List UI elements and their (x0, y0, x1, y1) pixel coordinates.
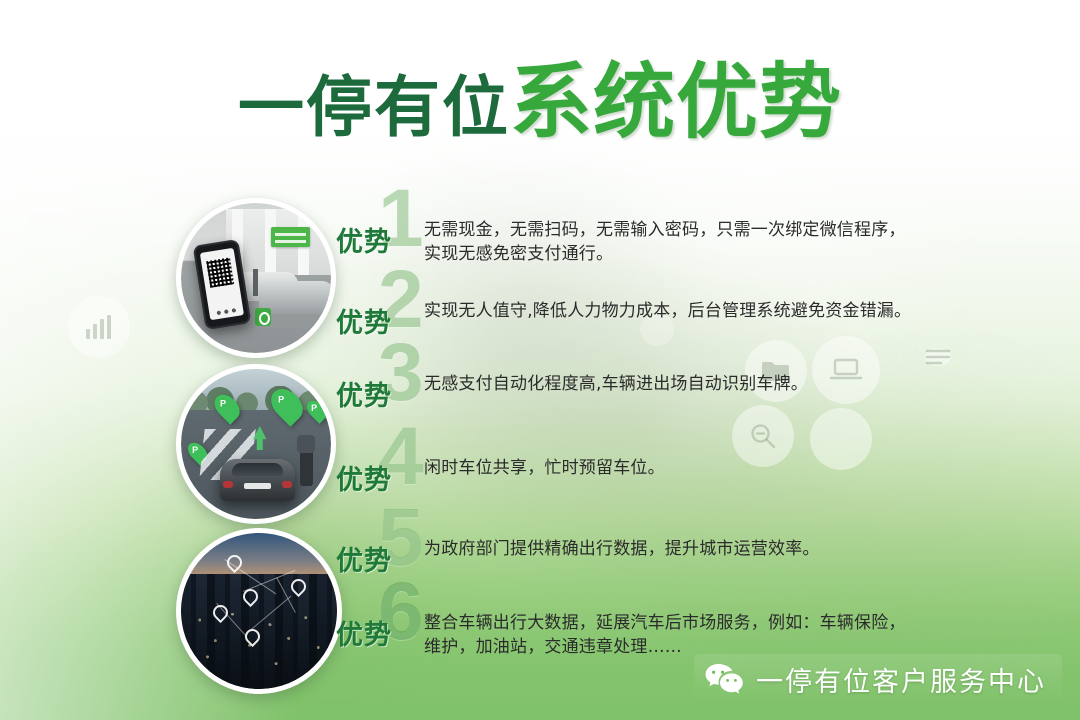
advantage-description-line1: 实现无人值守,降低人力物力成本，后台管理系统避免资金错漏。 (424, 301, 911, 321)
wechat-account-name: 一停有位客户服务中心 (756, 660, 1046, 699)
advantage-description: 无感支付自动化程度高,车辆进出场自动识别车牌。 (424, 372, 1010, 396)
advantage-description-line1: 无需现金，无需扫码，无需输入密码，只需一次绑定微信程序， (424, 220, 906, 240)
advantage-label: 优势 (336, 374, 392, 413)
advantage-description-line1: 整合车辆出行大数据，延展汽车后市场服务，例如：车辆保险， (424, 613, 906, 633)
poster-canvas: 一停有位系统优势 (0, 0, 1080, 720)
advantage-label: 优势 (336, 613, 392, 652)
advantage-description-line2: 实现无感免密支付通行。 (424, 242, 1010, 266)
advantage-description: 整合车辆出行大数据，延展汽车后市场服务，例如：车辆保险， 维护，加油站，交通违章… (424, 611, 1010, 659)
wechat-logo (704, 662, 744, 696)
advantage-description-line1: 闲时车位共享，忙时预留车位。 (424, 458, 665, 478)
advantage-description: 实现无人值守,降低人力物力成本，后台管理系统避免资金错漏。 (424, 299, 1010, 323)
wechat-footer-badge[interactable]: 一停有位客户服务中心 (694, 654, 1062, 704)
advantage-list: 1 优势 无需现金，无需扫码，无需输入密码，只需一次绑定微信程序， 实现无感免密… (0, 0, 1080, 720)
advantage-description-line1: 为政府部门提供精确出行数据，提升城市运营效率。 (424, 539, 820, 559)
advantage-description: 为政府部门提供精确出行数据，提升城市运营效率。 (424, 537, 1010, 561)
advantage-description-line1: 无感支付自动化程度高,车辆进出场自动识别车牌。 (424, 374, 808, 394)
advantage-description: 闲时车位共享，忙时预留车位。 (424, 456, 1010, 480)
advantage-description: 无需现金，无需扫码，无需输入密码，只需一次绑定微信程序， 实现无感免密支付通行。 (424, 218, 1010, 266)
